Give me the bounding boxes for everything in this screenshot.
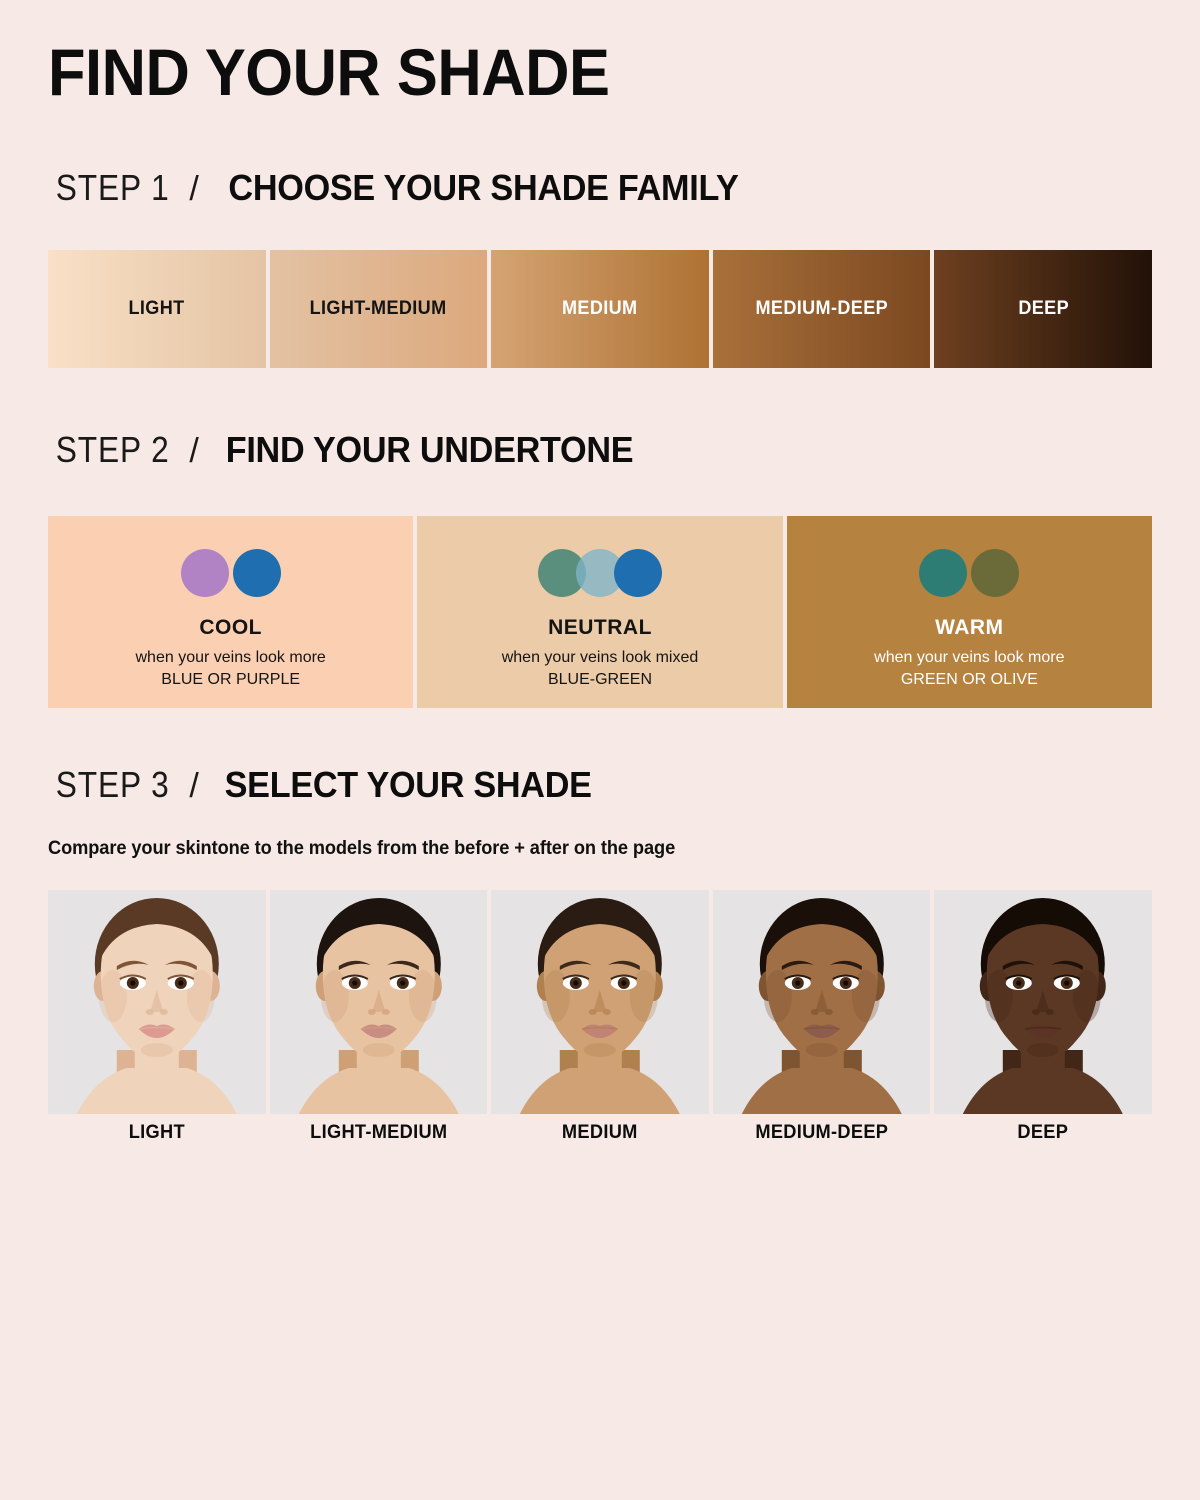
undertone-name: WARM bbox=[935, 616, 1004, 640]
undertone-panel-cool[interactable]: COOL when your veins look more BLUE OR P… bbox=[48, 516, 413, 708]
model-label-deep: DEEP bbox=[939, 1122, 1148, 1144]
shade-swatch-medium[interactable]: MEDIUM bbox=[491, 250, 709, 368]
step-3-number: STEP 3 bbox=[56, 765, 170, 805]
undertone-name: COOL bbox=[199, 616, 262, 640]
undertone-panel-neutral[interactable]: NEUTRAL when your veins look mixed BLUE-… bbox=[417, 516, 782, 708]
shade-family-bar: LIGHT LIGHT-MEDIUM MEDIUM MEDIUM-DEEP DE… bbox=[48, 250, 1152, 368]
undertone-dots-warm bbox=[919, 546, 1019, 600]
undertone-description: when your veins look more GREEN OR OLIVE bbox=[874, 647, 1064, 691]
model-photo-light[interactable] bbox=[48, 890, 266, 1114]
undertone-description-line1: when your veins look mixed bbox=[502, 649, 699, 666]
undertone-dots-neutral bbox=[538, 546, 662, 600]
undertone-description-line2: BLUE OR PURPLE bbox=[136, 669, 326, 691]
undertone-panels: COOL when your veins look more BLUE OR P… bbox=[48, 516, 1152, 708]
step-1-title: CHOOSE YOUR SHADE FAMILY bbox=[228, 168, 738, 208]
step-2-heading: STEP 2 / FIND YOUR UNDERTONE bbox=[48, 430, 644, 471]
shade-swatch-label: MEDIUM-DEEP bbox=[755, 298, 888, 320]
undertone-description-line1: when your veins look more bbox=[136, 649, 326, 666]
model-photo-row bbox=[48, 890, 1152, 1114]
shade-swatch-label: LIGHT bbox=[129, 298, 185, 320]
model-label-light-medium: LIGHT-MEDIUM bbox=[274, 1122, 483, 1144]
step-2-number: STEP 2 bbox=[56, 430, 170, 470]
find-your-shade-page: FIND YOUR SHADE STEP 1 / CHOOSE YOUR SHA… bbox=[0, 0, 1200, 1500]
model-label-medium: MEDIUM bbox=[496, 1122, 705, 1144]
shade-swatch-label: MEDIUM bbox=[562, 298, 637, 320]
undertone-panel-warm[interactable]: WARM when your veins look more GREEN OR … bbox=[787, 516, 1152, 708]
undertone-name: NEUTRAL bbox=[548, 616, 652, 640]
step-1-heading: STEP 1 / CHOOSE YOUR SHADE FAMILY bbox=[48, 168, 752, 209]
step-3-heading: STEP 3 / SELECT YOUR SHADE bbox=[48, 765, 601, 806]
step-3-title: SELECT YOUR SHADE bbox=[225, 765, 592, 805]
shade-swatch-medium-deep[interactable]: MEDIUM-DEEP bbox=[713, 250, 931, 368]
step-2-title: FIND YOUR UNDERTONE bbox=[226, 430, 634, 470]
olive-circle-icon bbox=[971, 549, 1019, 597]
model-label-medium-deep: MEDIUM-DEEP bbox=[717, 1122, 926, 1144]
step-3-subtitle: Compare your skintone to the models from… bbox=[48, 838, 675, 860]
model-photo-deep[interactable] bbox=[934, 890, 1152, 1114]
model-label-row: LIGHT LIGHT-MEDIUM MEDIUM MEDIUM-DEEP DE… bbox=[48, 1122, 1152, 1144]
teal-circle-icon bbox=[919, 549, 967, 597]
shade-swatch-deep[interactable]: DEEP bbox=[934, 250, 1152, 368]
undertone-description: when your veins look more BLUE OR PURPLE bbox=[136, 647, 326, 691]
shade-swatch-label: LIGHT-MEDIUM bbox=[310, 298, 447, 320]
shade-swatch-light[interactable]: LIGHT bbox=[48, 250, 266, 368]
shade-swatch-label: DEEP bbox=[1018, 298, 1069, 320]
step-1-number: STEP 1 bbox=[56, 168, 170, 208]
blue-circle-icon bbox=[614, 549, 662, 597]
shade-swatch-light-medium[interactable]: LIGHT-MEDIUM bbox=[270, 250, 488, 368]
page-title: FIND YOUR SHADE bbox=[48, 36, 609, 108]
step-1-separator: / bbox=[189, 169, 198, 209]
undertone-description-line1: when your veins look more bbox=[874, 649, 1064, 666]
undertone-description-line2: BLUE-GREEN bbox=[502, 669, 699, 691]
model-photo-light-medium[interactable] bbox=[270, 890, 488, 1114]
step-3-separator: / bbox=[189, 766, 198, 806]
undertone-description: when your veins look mixed BLUE-GREEN bbox=[502, 647, 699, 691]
undertone-description-line2: GREEN OR OLIVE bbox=[874, 669, 1064, 691]
step-2-separator: / bbox=[189, 431, 198, 471]
purple-circle-icon bbox=[181, 549, 229, 597]
model-label-light: LIGHT bbox=[52, 1122, 261, 1144]
model-photo-medium-deep[interactable] bbox=[713, 890, 931, 1114]
blue-circle-icon bbox=[233, 549, 281, 597]
undertone-dots-cool bbox=[181, 546, 281, 600]
model-photo-medium[interactable] bbox=[491, 890, 709, 1114]
